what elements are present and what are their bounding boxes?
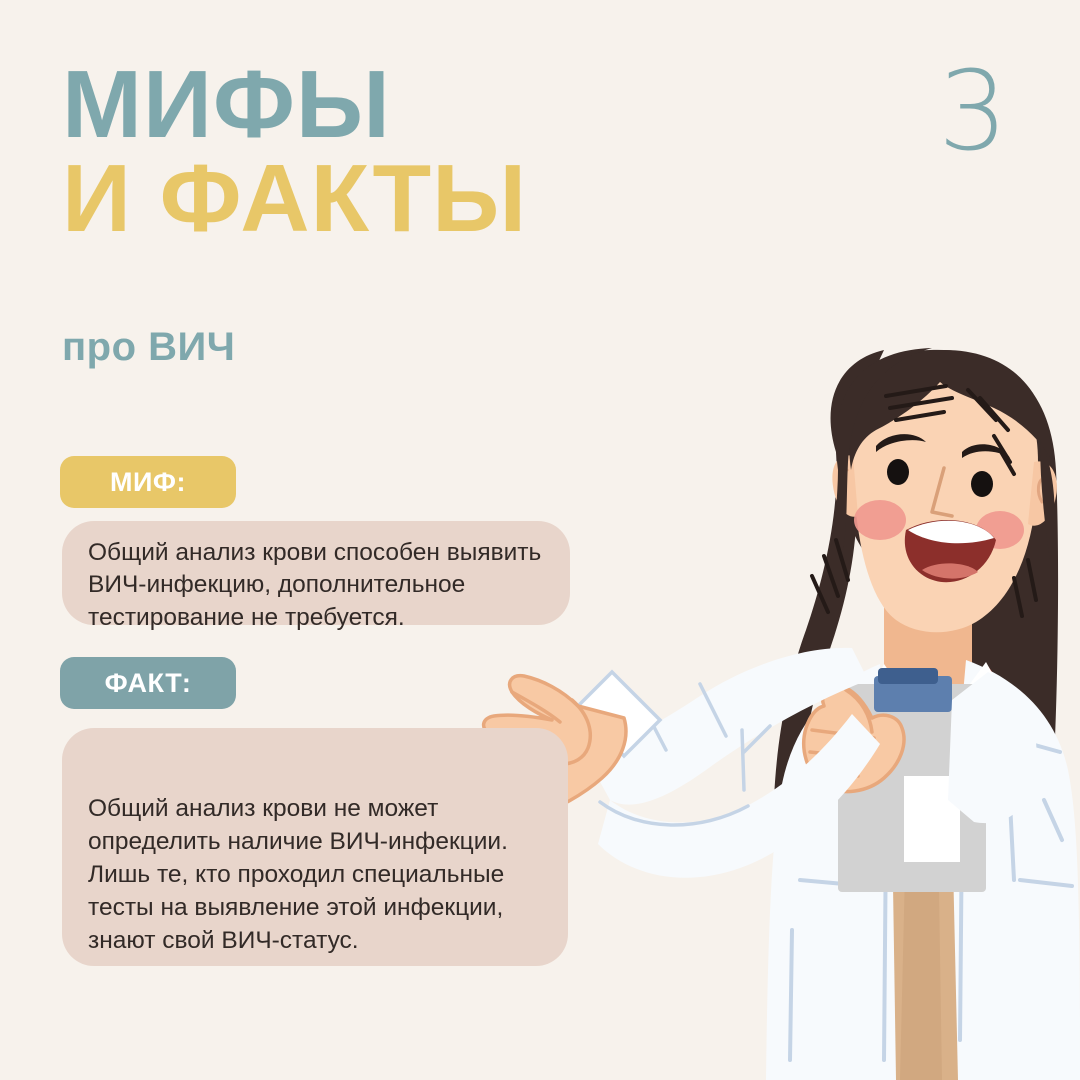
title-line-1: МИФЫ — [62, 58, 527, 152]
fact-badge-label: ФАКТ: — [105, 668, 192, 699]
content-layer: МИФЫ И ФАКТЫ про ВИЧ 3 МИФ: Общий анализ… — [0, 0, 1080, 1080]
myth-text: Общий анализ крови способен выявить ВИЧ-… — [88, 537, 544, 634]
fact-text: Общий анализ крови не может определить н… — [88, 792, 542, 957]
myth-badge-label: МИФ: — [110, 467, 186, 498]
fact-badge: ФАКТ: — [60, 657, 236, 709]
page-number: 3 — [938, 56, 1008, 166]
myth-textbox: Общий анализ крови способен выявить ВИЧ-… — [62, 521, 570, 625]
fact-textbox: Общий анализ крови не может определить н… — [62, 728, 568, 966]
title-block: МИФЫ И ФАКТЫ — [62, 58, 527, 246]
poster-canvas: МИФЫ И ФАКТЫ про ВИЧ 3 МИФ: Общий анализ… — [0, 0, 1080, 1080]
title-line-2: И ФАКТЫ — [62, 152, 527, 246]
myth-badge: МИФ: — [60, 456, 236, 508]
subtitle: про ВИЧ — [62, 325, 235, 370]
